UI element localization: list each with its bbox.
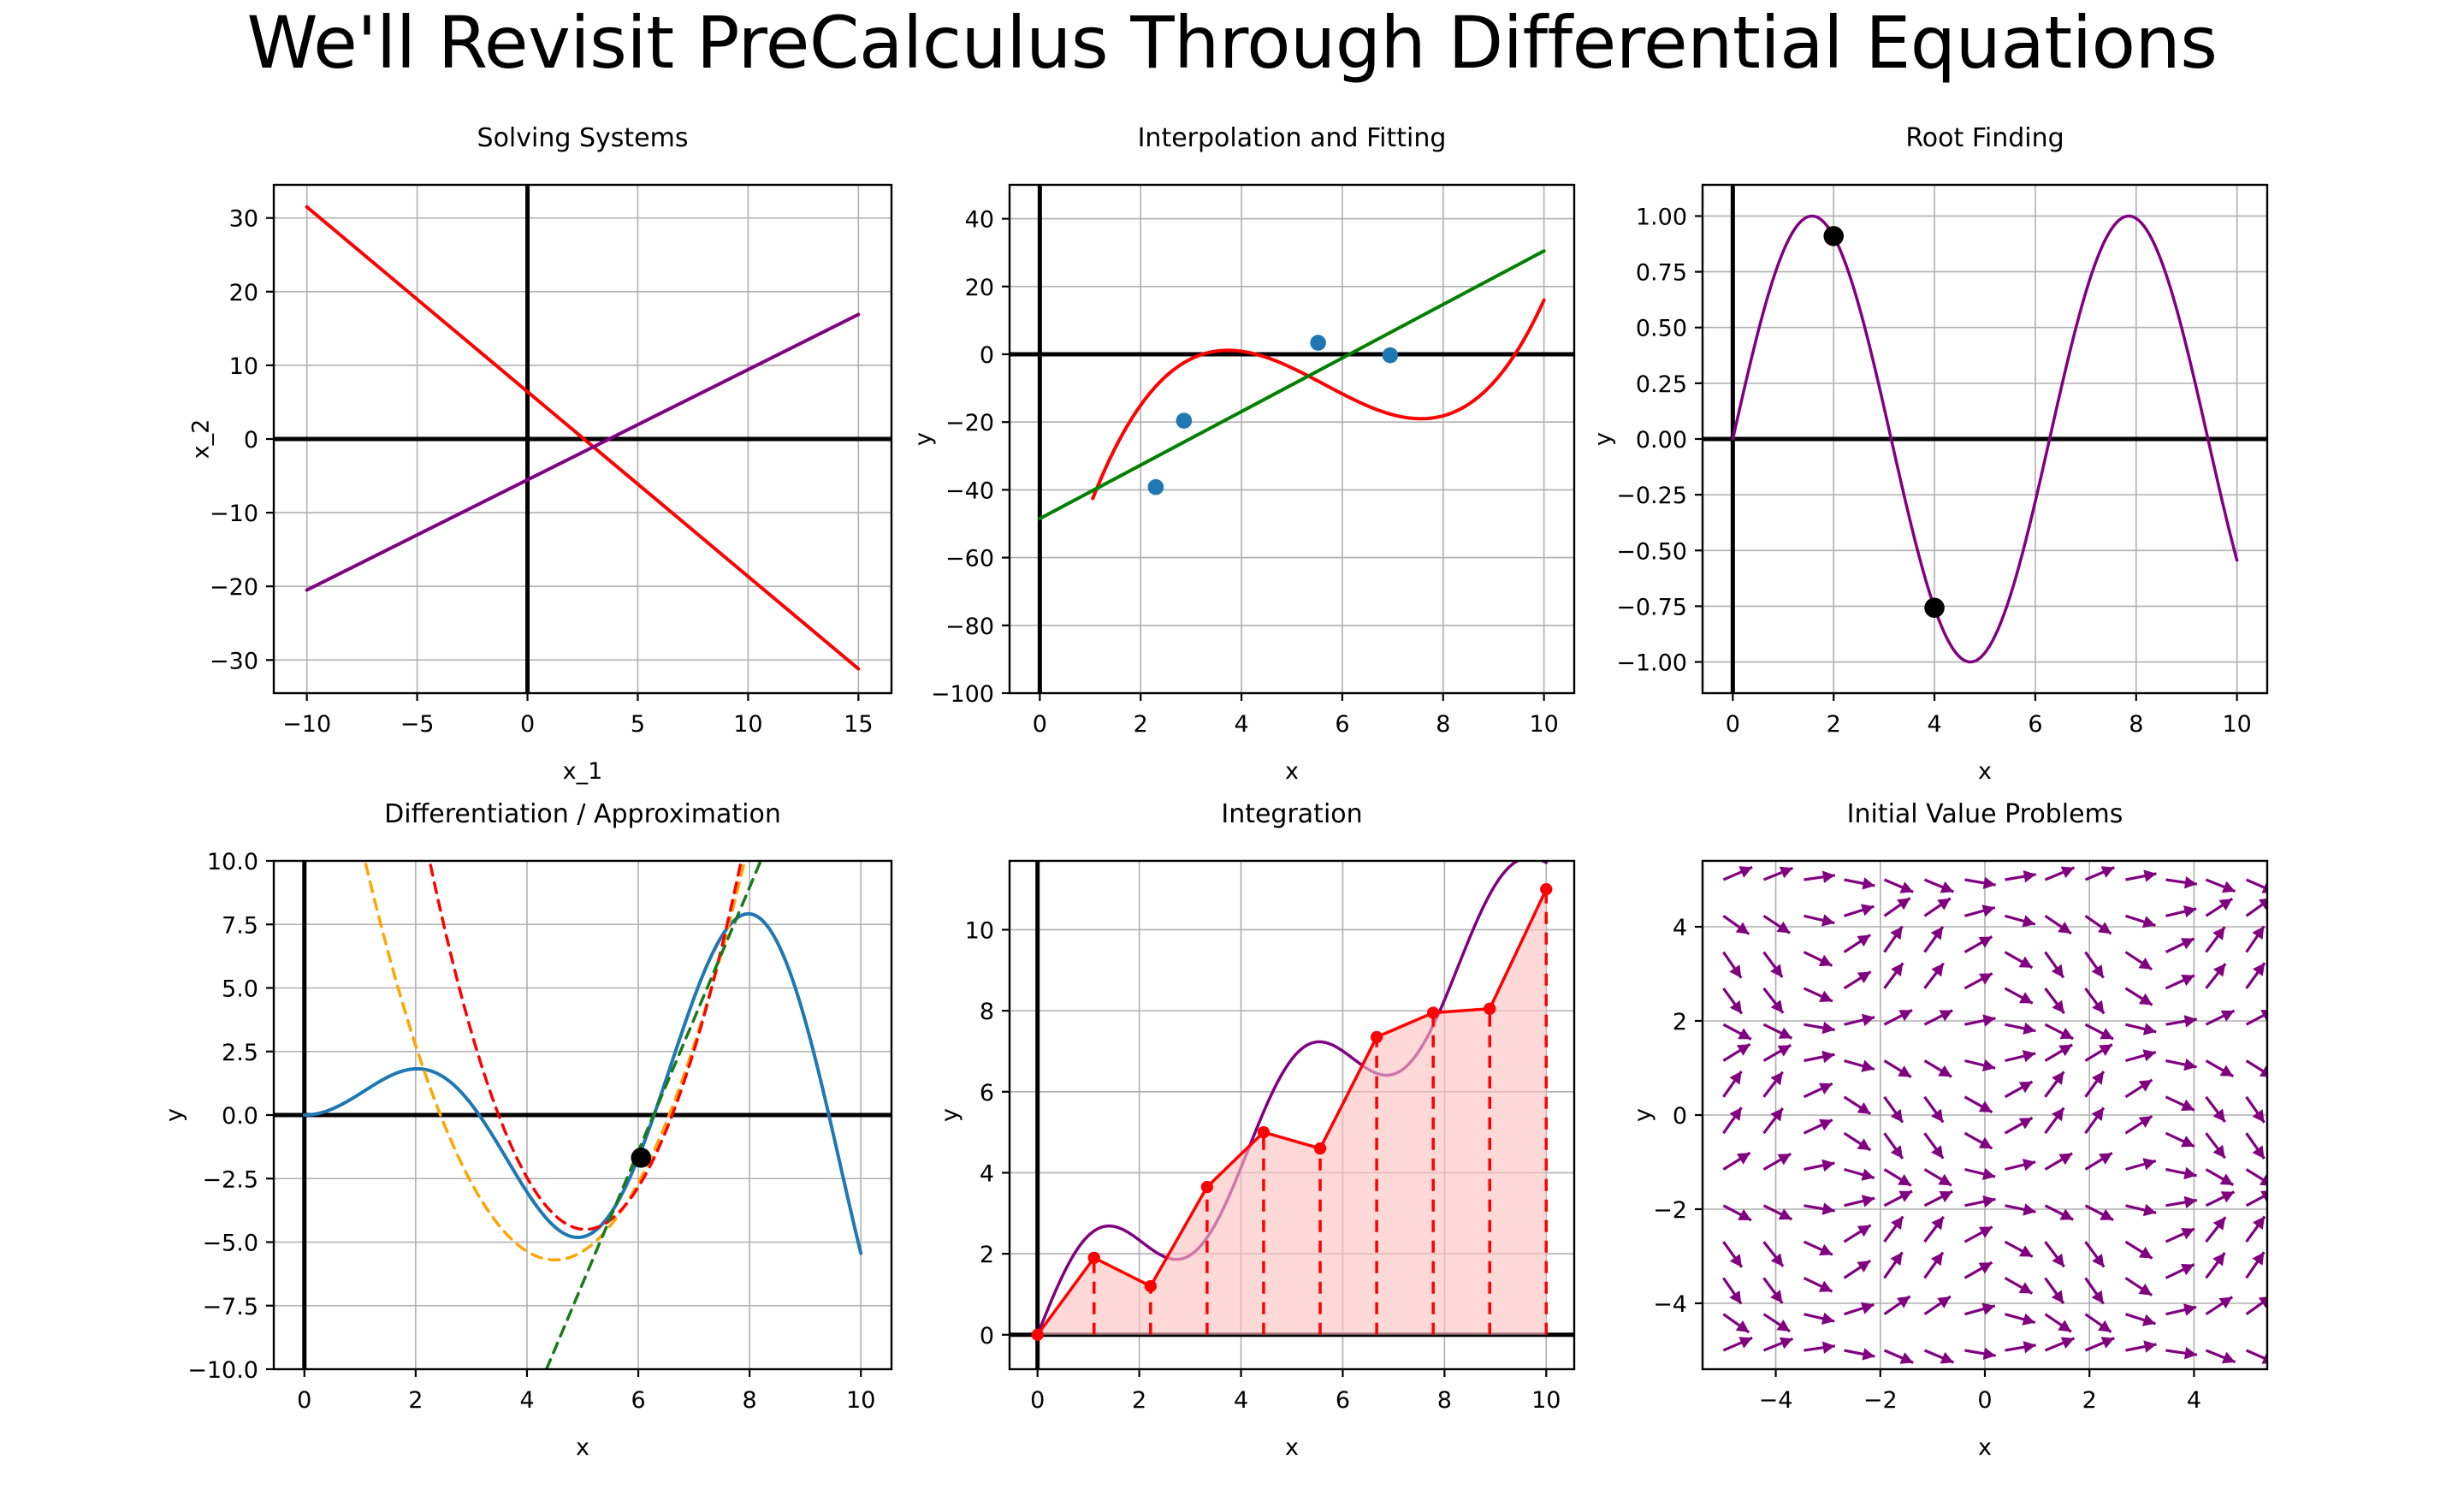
quiver-arrow-head — [1937, 1296, 1951, 1308]
quiver-arrow-head — [1983, 1348, 1996, 1360]
y-tick-label: 10.0 — [207, 849, 258, 875]
ticks-initial-value-problems: −4−2024−4−2024 — [1653, 915, 2201, 1414]
x-tick-label: −2 — [1863, 1387, 1898, 1414]
x-tick-label: 4 — [519, 1387, 534, 1414]
trapezoid-node — [1145, 1280, 1157, 1292]
series-linear-fit — [1039, 251, 1543, 519]
quiver-arrow-head — [2213, 1145, 2225, 1159]
x-tick-label: 10 — [2222, 711, 2251, 738]
subplot-integration: Integration02468100246810xy — [838, 784, 1643, 1489]
scatter-point — [1310, 335, 1326, 351]
quiver-arrow-head — [1822, 1022, 1835, 1034]
quiver-arrow-shaft — [2247, 1170, 2273, 1186]
subplot-title-solving-systems: Solving Systems — [274, 123, 891, 153]
y-tick-label: 7.5 — [222, 912, 258, 939]
subplot-title-initial-value-problems: Initial Value Problems — [1703, 799, 2267, 829]
x-tick-label: −5 — [400, 711, 435, 738]
subplot-solving-systems: Solving Systems−10−5051015−30−20−1001020… — [103, 108, 960, 813]
subplot-title-interpolation-and-fitting: Interpolation and Fitting — [1010, 123, 1574, 153]
plot-area-solving-systems: −10−5051015−30−20−100102030x_1x_2 — [103, 108, 960, 813]
quiver-arrow-head — [1931, 1145, 1943, 1159]
quiver-arrow-head — [1736, 1320, 1750, 1332]
quiver-arrow-head — [1931, 1217, 1943, 1231]
quiver-arrow-head — [1897, 898, 1910, 910]
quiver-arrow-head — [1822, 1342, 1835, 1355]
y-tick-label: 0.00 — [1636, 427, 1687, 454]
series-function-curve — [305, 914, 861, 1254]
scatter-point — [1148, 479, 1164, 495]
quiver-arrow-head — [1891, 1109, 1903, 1123]
quiver-arrow-shaft — [2247, 1350, 2276, 1363]
quiver-arrow-head — [2092, 1107, 2104, 1121]
plot-area-root-finding: 0246810−1.00−0.75−0.50−0.250.000.250.500… — [1531, 108, 2336, 813]
x-tick-label: 2 — [2082, 1387, 2097, 1414]
y-axis-label-root-finding: y — [1590, 432, 1617, 446]
quiver-arrow-shaft — [2247, 1191, 2274, 1206]
series-equation-2 — [307, 315, 859, 590]
x-tick-label: 4 — [2187, 1387, 2201, 1414]
x-axis-label-root-finding: x — [1978, 758, 1992, 785]
quiver-arrow-head — [1981, 1303, 1994, 1315]
subplot-root-finding: Root Finding0246810−1.00−0.75−0.50−0.250… — [1531, 108, 2336, 813]
x-tick-label: 0 — [1030, 1387, 1045, 1414]
x-tick-label: 0 — [1033, 711, 1047, 738]
quiver-arrow-head — [2022, 1314, 2035, 1326]
plot-area-differentiation-approximation: 0246810−10.0−7.5−5.0−2.50.02.55.07.510.0… — [103, 784, 960, 1489]
subplot-title-root-finding: Root Finding — [1703, 123, 2267, 153]
x-axis-label-solving-systems: x_1 — [563, 758, 603, 785]
quiver-arrow-head — [2253, 1146, 2265, 1160]
quiver-arrow-head — [2092, 1071, 2104, 1085]
quiver-arrow-head — [2253, 963, 2265, 976]
trapezoid-node — [1201, 1181, 1213, 1193]
y-tick-label: 30 — [229, 206, 258, 233]
quiver-arrow-head — [2253, 1109, 2265, 1123]
quiver-arrow-head — [2052, 1290, 2064, 1304]
subplot-title-integration: Integration — [1010, 799, 1574, 829]
y-tick-label: 5.0 — [222, 976, 258, 1003]
x-tick-label: 6 — [631, 1387, 645, 1414]
x-axis-label-initial-value-problems: x — [1978, 1434, 1992, 1461]
y-tick-label: 2 — [980, 1242, 994, 1268]
quiver-arrow-head — [2023, 1341, 2036, 1353]
x-tick-label: 6 — [1335, 711, 1349, 738]
x-axis-label-differentiation-approximation: x — [576, 1434, 589, 1461]
y-tick-label: −20 — [210, 574, 258, 601]
quiver-arrow-head — [2184, 876, 2197, 889]
y-axis-label-initial-value-problems: y — [1630, 1108, 1656, 1122]
trapezoid-node — [1484, 1003, 1496, 1015]
plot-area-integration: 02468100246810xy — [838, 784, 1643, 1489]
axes-spines-interpolation-and-fitting — [1010, 185, 1574, 693]
y-tick-label: −100 — [931, 681, 994, 708]
quiver-arrow-head — [1891, 963, 1903, 976]
quiver-arrow-head — [1770, 1108, 1782, 1122]
quiver-arrow-head — [1891, 927, 1903, 940]
y-tick-label: 1.00 — [1636, 204, 1687, 230]
series-cubic-interpolant — [1093, 300, 1543, 499]
y-tick-label: 10 — [229, 353, 258, 380]
quiver-arrow-head — [2142, 1049, 2155, 1061]
y-tick-label: 20 — [229, 280, 258, 306]
quiver-arrow-head — [1862, 877, 1875, 889]
x-tick-label: 6 — [2028, 711, 2042, 738]
quiver-arrow-head — [1822, 871, 1835, 884]
quiver-arrow-head — [1862, 1195, 1875, 1207]
y-axis-label-interpolation-and-fitting: y — [910, 432, 937, 446]
quiver-arrow-head — [2143, 1023, 2156, 1035]
quiver-arrow-head — [1891, 1252, 1903, 1266]
y-axis-label-differentiation-approximation: y — [162, 1108, 188, 1122]
quiver-arrow-head — [1730, 1000, 1742, 1014]
x-tick-label: 4 — [1234, 1387, 1248, 1414]
y-tick-label: 0 — [980, 1323, 994, 1350]
quiver-arrow-head — [2184, 1196, 2197, 1208]
subplot-differentiation-approximation: Differentiation / Approximation0246810−1… — [103, 784, 960, 1489]
x-tick-label: 0 — [1977, 1387, 1992, 1414]
y-tick-label: 10 — [965, 917, 994, 944]
quiver-arrow-head — [1821, 1160, 1834, 1172]
quiver-arrow-head — [1729, 1290, 1741, 1304]
quiver-arrow-head — [1861, 1060, 1874, 1072]
quiver-arrow-head — [2023, 1050, 2035, 1062]
scatter-point — [1383, 347, 1399, 364]
quiver-arrow-head — [1770, 1072, 1782, 1086]
quiver-arrow-head — [1982, 1059, 1995, 1071]
quiver-arrow-head — [1931, 964, 1943, 977]
y-tick-label: −10 — [210, 501, 258, 527]
trapezoid-node — [1258, 1126, 1270, 1138]
x-axis-label-interpolation-and-fitting: x — [1285, 758, 1299, 785]
quiver-arrow-head — [2023, 1023, 2035, 1035]
gridlines-interpolation-and-fitting — [1010, 185, 1574, 693]
trapezoid-node — [1371, 1031, 1383, 1043]
quiver-arrow-head — [2143, 1340, 2156, 1352]
quiver-arrow-head — [1891, 1145, 1903, 1159]
y-tick-label: 0.0 — [222, 1103, 258, 1130]
y-tick-label: −0.75 — [1616, 594, 1687, 620]
y-tick-label: −7.5 — [202, 1294, 258, 1320]
quiver-arrow-head — [1821, 1313, 1834, 1325]
quiver-arrow-head — [2022, 915, 2035, 927]
quiver-arrow-head — [1862, 1348, 1875, 1360]
quiver-arrow-head — [2142, 1158, 2155, 1170]
data-layer-interpolation-and-fitting — [1010, 185, 1574, 693]
quiver-arrow-head — [1931, 927, 1943, 940]
x-tick-label: 0 — [1726, 711, 1740, 738]
x-tick-label: 2 — [1132, 1387, 1146, 1414]
quiver-arrow-head — [1730, 1254, 1742, 1267]
x-tick-label: 2 — [1134, 711, 1148, 738]
quiver-arrow-head — [2092, 964, 2104, 978]
y-tick-label: −0.50 — [1616, 538, 1687, 565]
x-tick-label: 4 — [1927, 711, 1941, 738]
quiver-arrow-head — [2052, 964, 2064, 978]
quiver-arrow-head — [1862, 1014, 1875, 1026]
quiver-arrow-head — [2052, 1071, 2064, 1085]
y-tick-label: −10.0 — [187, 1357, 258, 1384]
quiver-arrow-head — [2252, 926, 2264, 940]
y-tick-label: 0.75 — [1636, 260, 1687, 287]
quiver-arrow-shaft — [2247, 1061, 2273, 1077]
y-tick-label: 2 — [1673, 1009, 1687, 1035]
x-tick-label: 8 — [2129, 711, 2143, 738]
quiver-arrow-head — [1931, 1109, 1943, 1123]
quiver-arrow-shaft — [2247, 880, 2276, 893]
quiver-arrow-head — [2212, 1253, 2224, 1267]
quiver-arrow-head — [2213, 1109, 2225, 1123]
quiver-arrow-head — [1937, 899, 1951, 911]
subplot-initial-value-problems: Initial Value Problems−4−2024−4−2024xy — [1531, 784, 2336, 1489]
y-tick-label: −4 — [1653, 1291, 1687, 1318]
data-layer-solving-systems — [274, 185, 891, 693]
x-tick-label: 5 — [631, 711, 645, 738]
x-tick-label: 2 — [408, 1387, 423, 1414]
plot-area-interpolation-and-fitting: 0246810−100−80−60−40−2002040xy — [838, 108, 1643, 813]
figure-canvas: We'll Revisit PreCalculus Through Differ… — [0, 0, 2464, 1479]
quiver-arrow-head — [2259, 1296, 2272, 1308]
y-axis-label-solving-systems: x_2 — [188, 419, 215, 460]
trapezoid-node — [1032, 1329, 1044, 1341]
quiver-arrow-head — [2098, 922, 2112, 934]
y-tick-label: 0 — [980, 342, 994, 369]
y-tick-label: −20 — [945, 410, 994, 436]
quiver-arrow-head — [2023, 870, 2036, 882]
y-tick-label: 20 — [965, 275, 994, 301]
y-tick-label: 0 — [244, 427, 258, 454]
data-layer-integration — [1010, 857, 1574, 1369]
quiver-arrow-head — [1821, 1051, 1834, 1063]
y-axis-label-integration: y — [937, 1108, 963, 1122]
marker-point — [1924, 597, 1945, 618]
quiver-arrow-head — [1861, 1169, 1874, 1181]
y-tick-label: 0.50 — [1636, 316, 1687, 342]
quiver-arrow-head — [1891, 1217, 1903, 1231]
quiver-arrow-head — [2023, 1159, 2035, 1171]
x-tick-label: −10 — [282, 711, 331, 738]
x-tick-label: 2 — [1827, 711, 1841, 738]
x-tick-label: 0 — [297, 1387, 311, 1414]
trapezoid-node — [1427, 1006, 1439, 1018]
quiver-arrow-head — [2052, 1254, 2064, 1267]
quiver-arrow-head — [2052, 1000, 2064, 1014]
quiver-arrow-head — [2143, 869, 2156, 881]
y-tick-label: −2.5 — [202, 1166, 258, 1193]
quiver-arrow-head — [1821, 914, 1834, 926]
x-tick-label: −4 — [1759, 1387, 1793, 1414]
marker-point — [631, 1148, 652, 1168]
quiver-arrow-head — [2052, 1108, 2064, 1122]
subplot-title-differentiation-approximation: Differentiation / Approximation — [274, 799, 891, 829]
quiver-arrow-head — [1730, 1071, 1742, 1085]
x-axis-label-integration: x — [1285, 1434, 1299, 1461]
y-tick-label: 4 — [980, 1160, 994, 1187]
quiver-arrow-head — [1897, 1296, 1910, 1308]
trapezoid-node — [1088, 1252, 1100, 1264]
y-tick-label: 2.5 — [222, 1040, 258, 1066]
quiver-arrow-head — [2143, 1204, 2156, 1216]
quiver-arrow-head — [2253, 1216, 2265, 1230]
subplot-interpolation-and-fitting: Interpolation and Fitting0246810−100−80−… — [838, 108, 1643, 813]
scatter-point — [1176, 412, 1193, 429]
y-tick-label: 0 — [1673, 1103, 1687, 1130]
figure-suptitle: We'll Revisit PreCalculus Through Differ… — [0, 5, 2464, 80]
y-tick-label: −0.25 — [1616, 483, 1687, 509]
x-tick-label: 10 — [733, 711, 762, 738]
y-tick-label: 8 — [980, 999, 994, 1025]
quiver-arrow-head — [2184, 1347, 2197, 1360]
quiver-arrow-head — [2058, 1320, 2071, 1332]
y-tick-label: −60 — [945, 546, 994, 572]
y-tick-label: −5.0 — [202, 1231, 258, 1257]
quiver-arrow-head — [1981, 905, 1994, 917]
quiver-arrow-head — [1729, 964, 1741, 978]
quiver-arrow-head — [2092, 1254, 2104, 1267]
quiver-arrow-head — [2092, 1290, 2104, 1304]
x-tick-label: 0 — [520, 711, 535, 738]
x-tick-label: 6 — [1336, 1387, 1350, 1414]
quiver-arrow-head — [2252, 1252, 2264, 1266]
y-tick-label: 4 — [1673, 915, 1687, 941]
y-tick-label: −2 — [1653, 1197, 1687, 1224]
x-tick-label: 8 — [1436, 711, 1450, 738]
y-tick-label: −80 — [945, 614, 994, 640]
quiver-arrow-head — [2212, 927, 2224, 940]
y-tick-label: −30 — [210, 648, 258, 674]
x-tick-label: 4 — [1234, 711, 1248, 738]
x-tick-label: 8 — [743, 1387, 757, 1414]
quiver-arrow-head — [2098, 1320, 2112, 1332]
data-layer-root-finding — [1703, 185, 2267, 693]
marker-point — [1823, 226, 1844, 246]
quiver-arrow-shaft — [2247, 1010, 2274, 1024]
y-tick-label: −40 — [945, 478, 994, 504]
x-tick-label: 8 — [1437, 1387, 1452, 1414]
quiver-arrow-head — [1931, 1253, 1943, 1267]
quiver-arrow-head — [1983, 877, 1996, 889]
y-tick-label: 6 — [980, 1080, 994, 1106]
quiver-arrow-head — [2092, 1000, 2104, 1014]
quiver-arrow-head — [2259, 898, 2272, 910]
quiver-arrow-head — [2058, 922, 2071, 934]
quiver-arrow-head — [1982, 1168, 1995, 1180]
y-tick-label: 0.25 — [1636, 371, 1687, 398]
y-tick-label: −1.00 — [1616, 650, 1687, 677]
quiver-arrow-head — [1730, 1107, 1742, 1121]
plot-area-initial-value-problems: −4−2024−4−2024xy — [1531, 784, 2336, 1489]
y-tick-label: 40 — [965, 207, 994, 234]
quiver-arrow-head — [1736, 922, 1750, 934]
trapezoid-node — [1314, 1142, 1326, 1154]
